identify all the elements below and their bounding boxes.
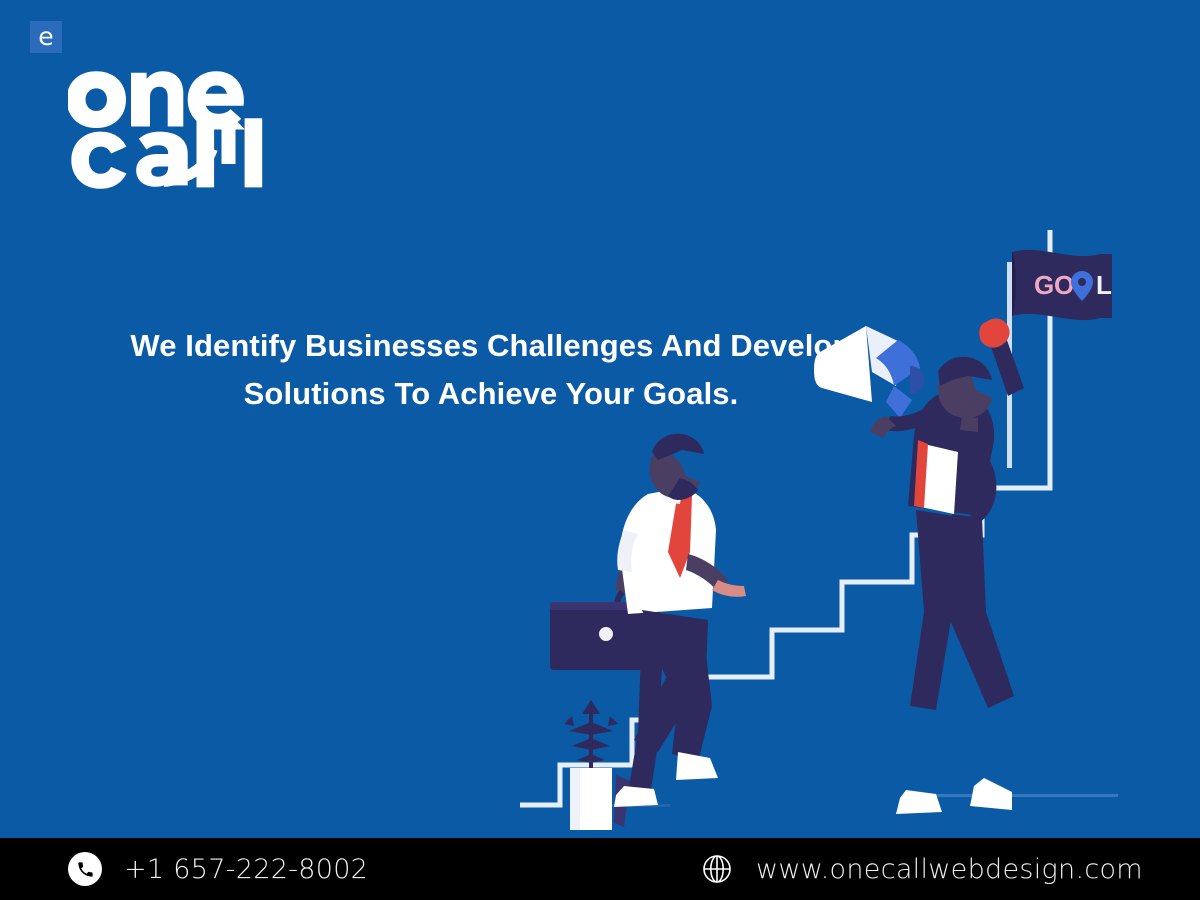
promo-banner: e [0, 0, 1200, 900]
businessman-with-megaphone [814, 319, 1024, 814]
banner-stage: e [0, 0, 1200, 838]
plant-leaves [564, 700, 618, 768]
e-badge-letter: e [38, 24, 53, 49]
contact-footer: +1 657-222-8002 www.onecallwebdesign.com [0, 838, 1200, 900]
footer-phone-number: +1 657-222-8002 [124, 854, 368, 885]
onecall-logo [68, 56, 268, 196]
goal-flag: G O L [1007, 250, 1113, 468]
phone-icon [68, 852, 102, 886]
footer-website-url: www.onecallwebdesign.com [756, 854, 1143, 885]
footer-website-item[interactable]: www.onecallwebdesign.com [700, 838, 1143, 900]
globe-icon [700, 852, 734, 886]
e-badge-icon: e [30, 21, 62, 53]
megaphone-icon [814, 326, 924, 418]
businessman-climbing-stairs [550, 434, 746, 807]
svg-text:L: L [1096, 270, 1113, 300]
footer-phone-item[interactable]: +1 657-222-8002 [68, 838, 368, 900]
svg-text:G: G [1034, 270, 1055, 300]
stairs-to-goal-illustration: G O L [520, 230, 1160, 830]
ground-shadow [580, 794, 1118, 807]
